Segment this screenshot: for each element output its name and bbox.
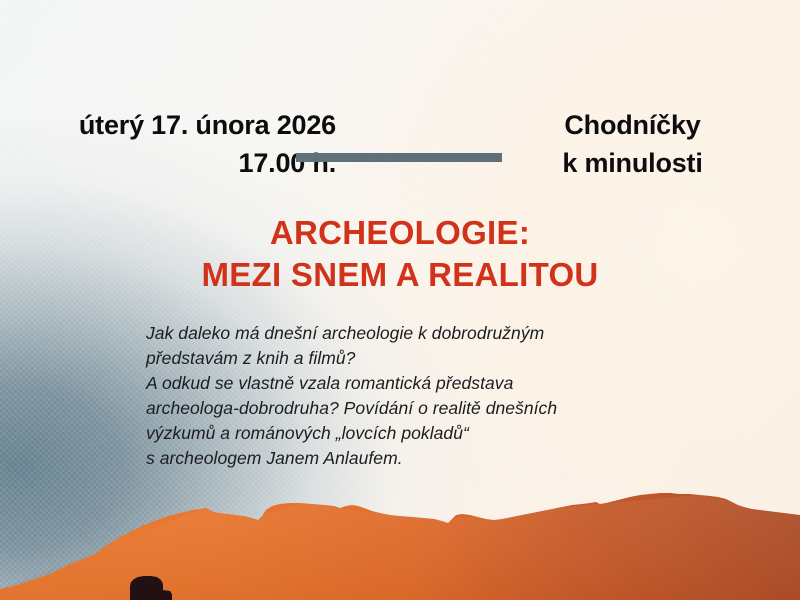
page-title-line-1: ARCHEOLOGIE: xyxy=(0,212,800,254)
header-divider-rule xyxy=(296,153,502,162)
poster-header: úterý 17. února 2026 17.00 h. Chodníčky … xyxy=(0,106,800,186)
series-title: Chodníčky k minulosti xyxy=(500,106,765,182)
page-title-line-2: MEZI SNEM A REALITOU xyxy=(0,254,800,296)
description-line-2: představám z knih a filmů? xyxy=(146,346,746,371)
series-title-line-2: k minulosti xyxy=(500,144,765,182)
event-date-time: úterý 17. února 2026 17.00 h. xyxy=(0,106,336,182)
series-title-line-1: Chodníčky xyxy=(500,106,765,144)
event-time: 17.00 h. xyxy=(0,144,336,182)
event-date: úterý 17. února 2026 xyxy=(0,106,336,144)
description-line-1: Jak daleko má dnešní archeologie k dobro… xyxy=(146,321,746,346)
mountain-artwork xyxy=(0,490,800,600)
event-description: Jak daleko má dnešní archeologie k dobro… xyxy=(146,321,746,471)
description-line-3: A odkud se vlastně vzala romantická před… xyxy=(146,371,746,396)
mountain-shading-path xyxy=(0,495,800,600)
description-line-6: s archeologem Janem Anlaufem. xyxy=(146,446,746,471)
event-poster: úterý 17. února 2026 17.00 h. Chodníčky … xyxy=(0,0,800,600)
description-line-5: výzkumů a románových „lovcích pokladů“ xyxy=(146,421,746,446)
page-title: ARCHEOLOGIE: MEZI SNEM A REALITOU xyxy=(0,212,800,296)
description-line-4: archeologa-dobrodruha? Povídání o realit… xyxy=(146,396,746,421)
